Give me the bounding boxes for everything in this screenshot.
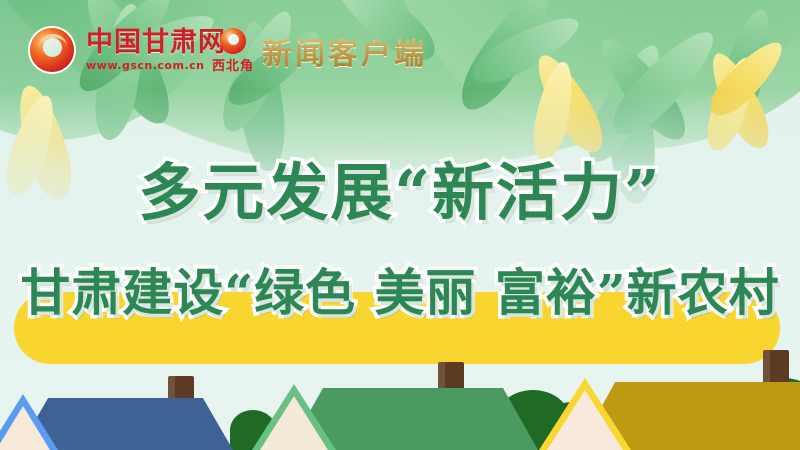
infographic-poster: 中国甘肃网 www.gscn.com.cn 西北角 新闻客户端 多元发展“新活力… — [0, 0, 800, 450]
headline-container: 多元发展“新活力” — [0, 160, 800, 227]
xibeijiao-logo-block: 西北角 — [212, 28, 254, 74]
xibeijiao-circle-logo-icon — [220, 28, 246, 54]
gansu-net-text-block: 中国甘肃网 www.gscn.com.cn — [86, 29, 226, 71]
house-blue — [18, 392, 233, 450]
house-yellow — [578, 376, 800, 450]
gansu-net-url: www.gscn.com.cn — [86, 60, 226, 71]
page-subtitle: 甘肃建设“绿色 美丽 富裕”新农村 — [20, 265, 779, 320]
subheadline-container: 甘肃建设“绿色 美丽 富裕”新农村 — [0, 265, 800, 320]
gansu-net-circle-logo-icon — [30, 28, 74, 72]
gansu-net-name: 中国甘肃网 — [86, 29, 226, 56]
page-title: 多元发展“新活力” — [138, 160, 661, 227]
xibeijiao-label: 西北角 — [212, 55, 254, 74]
news-client-app-name: 新闻客户端 — [262, 29, 427, 73]
masthead-news-client[interactable]: 西北角 新闻客户端 — [212, 26, 427, 76]
village-illustration — [0, 330, 800, 450]
masthead-gansu-net[interactable]: 中国甘肃网 www.gscn.com.cn — [30, 24, 226, 76]
house-green — [288, 382, 538, 450]
